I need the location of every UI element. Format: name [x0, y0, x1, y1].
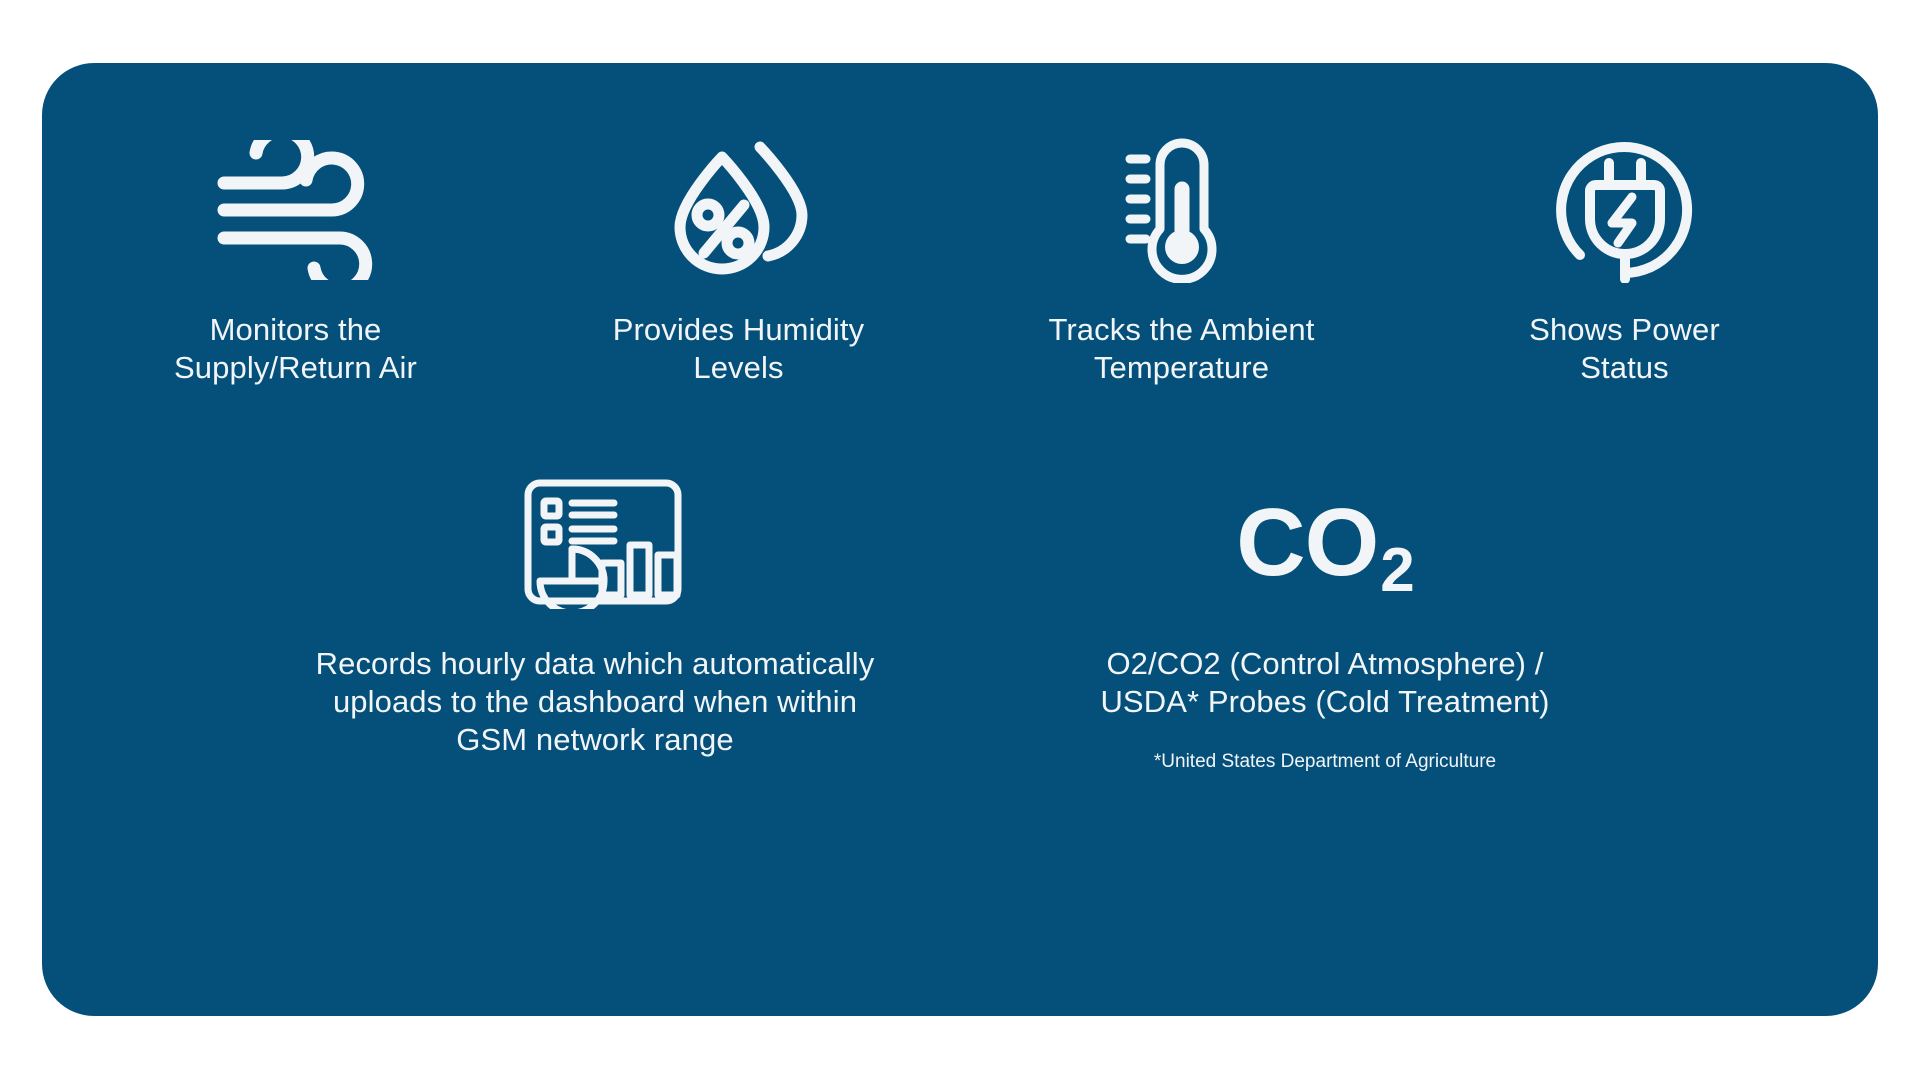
feature-label-line1: Monitors the: [210, 312, 382, 347]
feature-label-line2: Status: [1580, 350, 1668, 385]
power-plug-icon: [1552, 135, 1698, 285]
slide-canvas: Monitors the Supply/Return Air: [0, 0, 1920, 1080]
feature-hourly-data-upload[interactable]: Records hourly data which automatically …: [245, 463, 945, 758]
feature-humidity-levels[interactable]: Provides Humidity Levels: [541, 135, 936, 387]
feature-label: Tracks the Ambient Temperature: [1049, 311, 1315, 387]
feature-ambient-temperature[interactable]: Tracks the Ambient Temperature: [984, 135, 1379, 387]
co2-wordmark: CO2: [1236, 495, 1413, 591]
feature-paragraph: O2/CO2 (Control Atmosphere) / USDA* Prob…: [1100, 645, 1549, 721]
feature-label-line1: Shows Power: [1529, 312, 1720, 347]
co2-wordmark-icon: CO2: [1236, 463, 1413, 623]
feature-label-line1: Provides Humidity: [613, 312, 865, 347]
paragraph-line2: USDA* Probes (Cold Treatment): [1100, 684, 1549, 719]
wind-icon: [212, 135, 380, 285]
feature-label: Shows Power Status: [1529, 311, 1720, 387]
feature-power-status[interactable]: Shows Power Status: [1427, 135, 1822, 387]
dashboard-chart-icon: [506, 463, 684, 623]
feature-row-top: Monitors the Supply/Return Air: [42, 63, 1878, 483]
humidity-droplets-percent-icon: [664, 135, 814, 285]
feature-paragraph: Records hourly data which automatically …: [316, 645, 875, 758]
thermometer-icon: [1122, 135, 1242, 285]
feature-label: Provides Humidity Levels: [613, 311, 865, 387]
footnote-usda: *United States Department of Agriculture: [1154, 751, 1496, 773]
feature-label-line2: Levels: [693, 350, 783, 385]
feature-label: Monitors the Supply/Return Air: [174, 311, 417, 387]
feature-label-line1: Tracks the Ambient: [1049, 312, 1315, 347]
paragraph-line1: Records hourly data which automatically: [316, 646, 875, 681]
feature-label-line2: Temperature: [1094, 350, 1269, 385]
paragraph-line3: GSM network range: [456, 722, 733, 757]
co2-main: CO: [1236, 495, 1378, 591]
feature-row-bottom: Records hourly data which automatically …: [42, 463, 1878, 943]
feature-supply-return-air[interactable]: Monitors the Supply/Return Air: [98, 135, 493, 387]
co2-subscript: 2: [1380, 540, 1413, 602]
paragraph-line1: O2/CO2 (Control Atmosphere) /: [1106, 646, 1543, 681]
paragraph-line2: uploads to the dashboard when within: [333, 684, 857, 719]
feature-card: Monitors the Supply/Return Air: [42, 63, 1878, 1016]
feature-label-line2: Supply/Return Air: [174, 350, 417, 385]
feature-co2-probes[interactable]: CO2 O2/CO2 (Control Atmosphere) / USDA* …: [975, 463, 1675, 773]
